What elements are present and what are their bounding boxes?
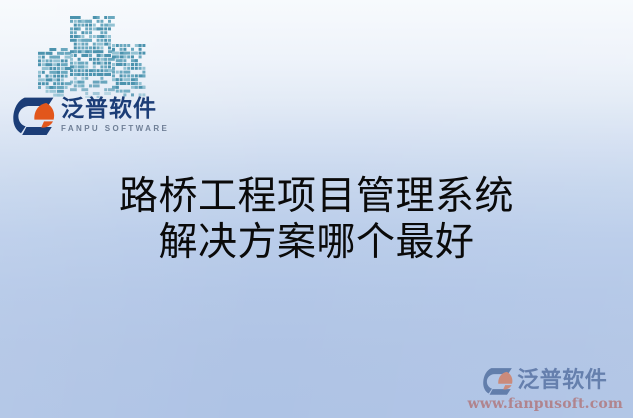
page-title: 路桥工程项目管理系统 解决方案哪个最好 xyxy=(0,174,633,266)
brand-logo: 泛普软件 FANPU SOFTWARE xyxy=(13,95,169,135)
watermark-brand-name-cn: 泛普软件 xyxy=(517,370,607,392)
promo-banner: 泛普软件 FANPU SOFTWARE 路桥工程项目管理系统 解决方案哪个最好 … xyxy=(0,0,633,418)
watermark-fanpu-hexagon-logo-icon xyxy=(483,366,513,395)
brand-name-cn: 泛普软件 xyxy=(61,98,169,121)
page-title-line-2: 解决方案哪个最好 xyxy=(0,220,633,266)
brand-name-en: FANPU SOFTWARE xyxy=(61,125,169,133)
pixel-city-skyline-icon xyxy=(36,2,148,98)
page-title-line-1: 路桥工程项目管理系统 xyxy=(0,174,633,220)
watermark: 泛普软件 www.fanpusoft.com xyxy=(467,366,623,412)
watermark-url: www.fanpusoft.com xyxy=(467,396,623,412)
fanpu-hexagon-logo-icon xyxy=(13,95,55,135)
